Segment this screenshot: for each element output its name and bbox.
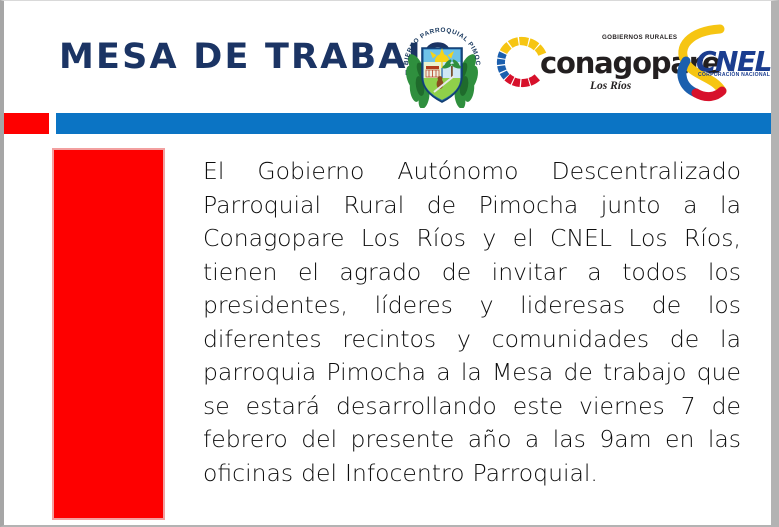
gad-parroquial-pimocha-crest-icon: GOBIERNO PARROQUIAL PIMOCHA	[396, 16, 488, 108]
divider-bar-blue	[56, 113, 771, 134]
conagopare-logo: GOBIERNOS RURALES conagopare Los Ríos	[494, 24, 666, 100]
divider-bar-red	[4, 113, 49, 134]
logo-strip: GOBIERNO PARROQUIAL PIMOCHA	[396, 15, 779, 109]
cnel-ep-logo: CNEL EP CORPORACIÓN NACIONAL DE ELECTRIC…	[672, 19, 779, 105]
red-accent-panel	[52, 148, 165, 520]
slide-header: MESA DE TRABAJO	[4, 1, 771, 113]
cnel-sub-label: CORPORACIÓN NACIONAL DE ELECTRICIDAD	[698, 72, 779, 78]
slide-canvas: MESA DE TRABAJO	[0, 0, 779, 527]
invitation-body-text: El Gobierno Autónomo Descentralizado Par…	[203, 155, 741, 490]
conagopare-sub-label: Los Ríos	[590, 80, 631, 92]
conagopare-top-label: GOBIERNOS RURALES	[602, 34, 677, 41]
